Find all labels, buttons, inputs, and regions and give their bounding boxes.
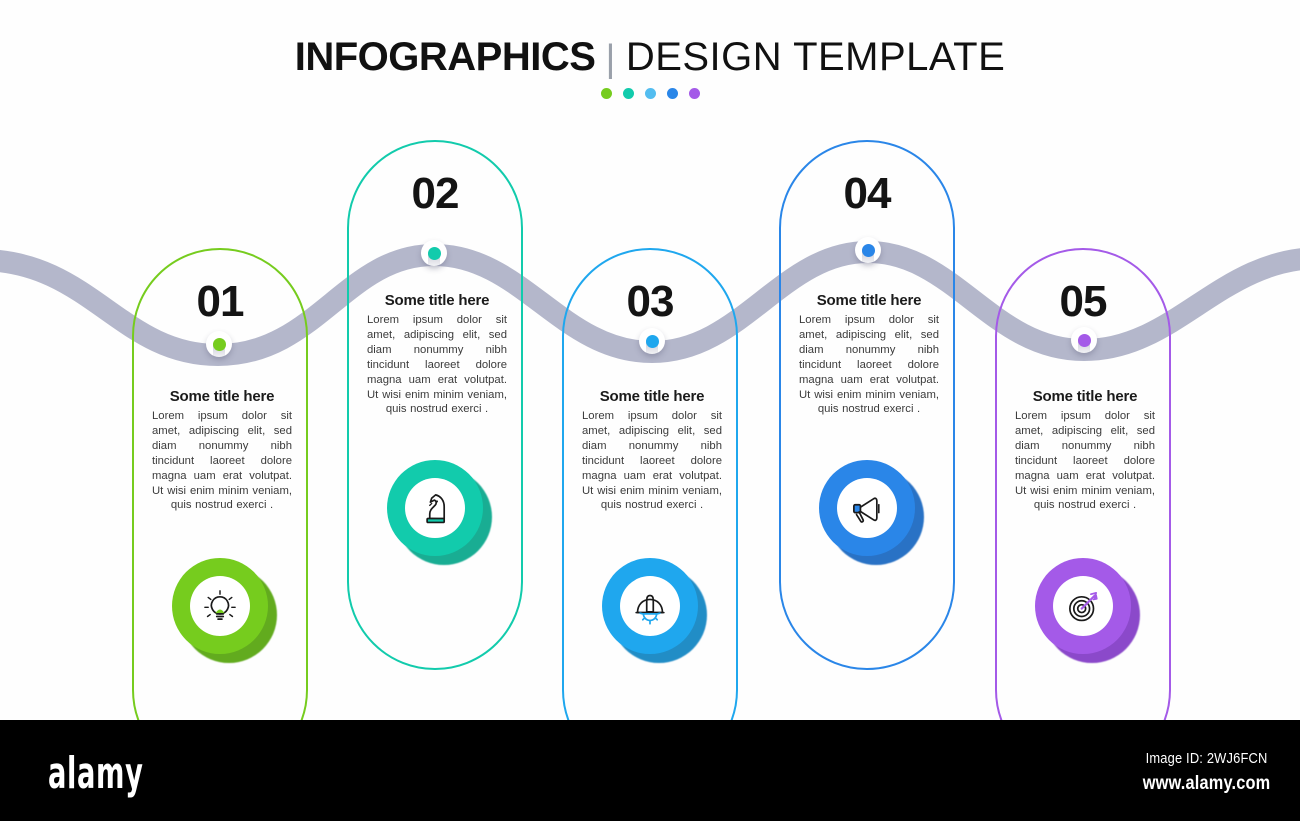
hardhat-gear-icon: [629, 585, 671, 627]
infographic-canvas: INFOGRAPHICS|DESIGN TEMPLATE 01Some titl…: [0, 0, 1300, 720]
image-id-label: Image ID: 2WJ6FCN: [1142, 750, 1270, 767]
card-description: Lorem ipsum dolor sit amet, adipiscing e…: [1009, 409, 1161, 513]
info-card-01[interactable]: 01Some title hereLorem ipsum dolor sit a…: [132, 248, 308, 720]
info-card-03[interactable]: 03Some title hereLorem ipsum dolor sit a…: [562, 248, 738, 720]
card-icon-badge[interactable]: [819, 460, 915, 556]
wave-marker-02[interactable]: [421, 240, 447, 266]
card-text-block: Some title hereLorem ipsum dolor sit ame…: [146, 388, 298, 513]
card-text-block: Some title hereLorem ipsum dolor sit ame…: [1009, 388, 1161, 513]
title-dot-1: [601, 88, 612, 99]
card-description: Lorem ipsum dolor sit amet, adipiscing e…: [146, 409, 298, 513]
chess-knight-icon: [414, 487, 456, 529]
page-title: INFOGRAPHICS|DESIGN TEMPLATE: [0, 36, 1300, 79]
card-title: Some title here: [361, 292, 513, 309]
card-text-block: Some title hereLorem ipsum dolor sit ame…: [793, 292, 945, 417]
card-number: 04: [844, 172, 891, 216]
card-inner: 04Some title hereLorem ipsum dolor sit a…: [781, 142, 953, 668]
watermark-footer: alamy Image ID: 2WJ6FCN www.alamy.com: [0, 720, 1300, 821]
marker-dot: [428, 247, 441, 260]
title-dot-3: [645, 88, 656, 99]
title-dot-4: [667, 88, 678, 99]
website-label: www.alamy.com: [1142, 773, 1270, 795]
card-description: Lorem ipsum dolor sit amet, adipiscing e…: [361, 313, 513, 417]
card-number: 02: [412, 172, 459, 216]
card-description: Lorem ipsum dolor sit amet, adipiscing e…: [576, 409, 728, 513]
title-light: DESIGN TEMPLATE: [626, 35, 1005, 79]
lightbulb-icon: [199, 585, 241, 627]
card-title: Some title here: [576, 388, 728, 405]
wave-marker-04[interactable]: [855, 237, 881, 263]
title-separator: |: [595, 38, 625, 80]
wave-marker-01[interactable]: [206, 331, 232, 357]
wave-marker-05[interactable]: [1071, 327, 1097, 353]
alamy-logo: alamy: [48, 748, 143, 799]
marker-dot: [646, 335, 659, 348]
card-text-block: Some title hereLorem ipsum dolor sit ame…: [576, 388, 728, 513]
card-title: Some title here: [793, 292, 945, 309]
title-dot-5: [689, 88, 700, 99]
title-bold: INFOGRAPHICS: [295, 35, 596, 79]
card-description: Lorem ipsum dolor sit amet, adipiscing e…: [793, 313, 945, 417]
card-title: Some title here: [1009, 388, 1161, 405]
title-dot-2: [623, 88, 634, 99]
card-icon-badge[interactable]: [602, 558, 698, 654]
card-icon-badge[interactable]: [1035, 558, 1131, 654]
info-card-05[interactable]: 05Some title hereLorem ipsum dolor sit a…: [995, 248, 1171, 720]
target-arrow-icon: [1062, 585, 1104, 627]
title-dot-row: [0, 88, 1300, 99]
marker-dot: [862, 244, 875, 257]
card-title: Some title here: [146, 388, 298, 405]
megaphone-icon: [846, 487, 888, 529]
card-inner: 03Some title hereLorem ipsum dolor sit a…: [564, 250, 736, 720]
marker-dot: [1078, 334, 1091, 347]
card-inner: 05Some title hereLorem ipsum dolor sit a…: [997, 250, 1169, 720]
card-icon-badge[interactable]: [172, 558, 268, 654]
card-inner: 01Some title hereLorem ipsum dolor sit a…: [134, 250, 306, 720]
card-number: 01: [197, 280, 244, 324]
card-number: 03: [627, 280, 674, 324]
info-card-02[interactable]: 02Some title hereLorem ipsum dolor sit a…: [347, 140, 523, 670]
marker-dot: [213, 338, 226, 351]
page-header: INFOGRAPHICS|DESIGN TEMPLATE: [0, 36, 1300, 99]
card-inner: 02Some title hereLorem ipsum dolor sit a…: [349, 142, 521, 668]
card-icon-badge[interactable]: [387, 460, 483, 556]
card-text-block: Some title hereLorem ipsum dolor sit ame…: [361, 292, 513, 417]
card-number: 05: [1060, 280, 1107, 324]
info-card-04[interactable]: 04Some title hereLorem ipsum dolor sit a…: [779, 140, 955, 670]
footer-meta: Image ID: 2WJ6FCN www.alamy.com: [1142, 750, 1270, 795]
wave-marker-03[interactable]: [639, 328, 665, 354]
